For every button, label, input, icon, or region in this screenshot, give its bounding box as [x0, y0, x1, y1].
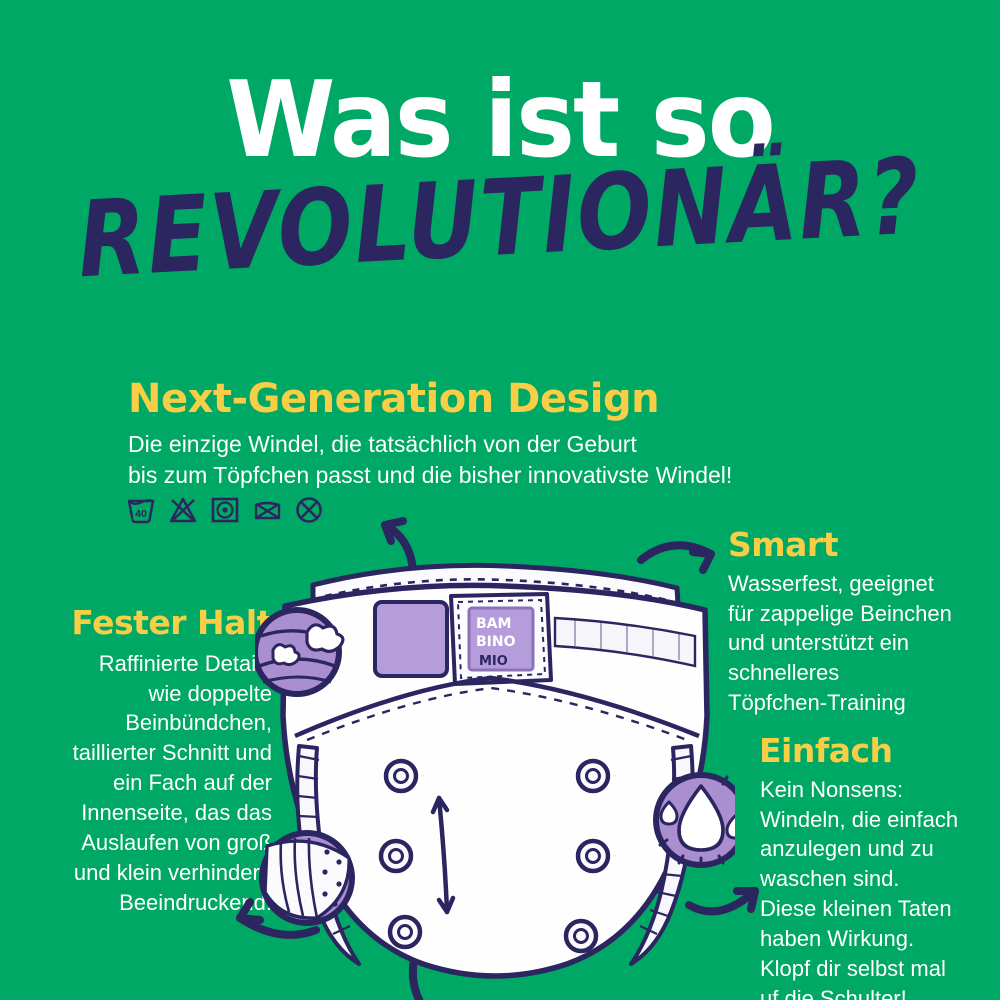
- section-body-fester-halt: Raffinierte Details wie doppelte Beinbün…: [14, 649, 272, 918]
- brand-label-line-3: MIO: [479, 654, 508, 669]
- body-line: Die einzige Windel, die tatsächlich von …: [128, 429, 828, 460]
- snap-button: [578, 841, 608, 871]
- body-line: Töpfchen-Training: [728, 688, 990, 718]
- wash-40-icon: 40: [126, 496, 156, 524]
- snap-button: [578, 761, 608, 791]
- waterproof-drop-badge: [656, 775, 735, 866]
- do-not-dry-clean-icon: [294, 496, 324, 524]
- body-line: Auslaufen von groß: [14, 828, 272, 858]
- section-einfach: Einfach Kein Nonsens: Windeln, die einfa…: [760, 734, 1000, 1000]
- body-line: anzulegen und zu: [760, 834, 1000, 864]
- body-line: Innenseite, das das: [14, 798, 272, 828]
- section-title-fester-halt: Fester Halt: [14, 606, 272, 641]
- diaper-illustration: BAM BINO MIO: [255, 540, 735, 1000]
- snap-button: [566, 921, 596, 951]
- tumble-dry-low-icon: [210, 496, 240, 524]
- section-body-einfach: Kein Nonsens: Windeln, die einfach anzul…: [760, 775, 1000, 1000]
- brand-label-line-2: BINO: [476, 634, 516, 650]
- do-not-iron-icon: [252, 496, 282, 524]
- body-line: Windeln, die einfach: [760, 805, 1000, 835]
- body-line: und unterstützt ein: [728, 628, 990, 658]
- body-line: Beinbündchen,: [14, 708, 272, 738]
- section-next-generation-design: Next-Generation Design Die einzige Winde…: [128, 378, 828, 491]
- snap-button: [386, 761, 416, 791]
- body-line: schnelleres: [728, 658, 990, 688]
- soft-fabric-badge: [255, 610, 343, 694]
- do-not-bleach-icon: [168, 496, 198, 524]
- body-line: waschen sind.: [760, 864, 1000, 894]
- snap-button: [390, 917, 420, 947]
- section-smart: Smart Wasserfest, geeignet für zappelige…: [728, 528, 990, 718]
- body-line: Wasserfest, geeignet: [728, 569, 990, 599]
- section-fester-halt: Fester Halt Raffinierte Details wie dopp…: [14, 606, 272, 918]
- brand-label-line-1: BAM: [476, 616, 511, 632]
- section-body-next-generation: Die einzige Windel, die tatsächlich von …: [128, 429, 828, 491]
- body-line: ein Fach auf der: [14, 768, 272, 798]
- body-line: Kein Nonsens:: [760, 775, 1000, 805]
- body-line: uf die Schulter!: [760, 984, 1000, 1000]
- elastic-cuff-badge: [262, 833, 352, 923]
- headline-secondary: REVOLUTIONÄR?: [0, 176, 1000, 262]
- infographic-poster: Was ist so REVOLUTIONÄR? Next-Generation…: [0, 0, 1000, 1000]
- body-line: Klopf dir selbst mal: [760, 954, 1000, 984]
- body-line: haben Wirkung.: [760, 924, 1000, 954]
- body-line: taillierter Schnitt und: [14, 738, 272, 768]
- body-line: für zappelige Beinchen: [728, 599, 990, 629]
- snap-button: [381, 841, 411, 871]
- section-title-einfach: Einfach: [759, 734, 1000, 769]
- body-line: Diese kleinen Taten: [760, 894, 1000, 924]
- body-line: wie doppelte: [14, 679, 272, 709]
- care-symbol-row: 40: [126, 496, 324, 524]
- wash-temp-label: 40: [135, 508, 147, 520]
- body-line: Raffinierte Details: [14, 649, 272, 679]
- section-title-smart: Smart: [728, 528, 990, 563]
- section-body-smart: Wasserfest, geeignet für zappelige Beinc…: [728, 569, 990, 719]
- section-title-next-generation: Next-Generation Design: [128, 378, 828, 420]
- body-line: bis zum Töpfchen passt und die bisher in…: [128, 460, 828, 491]
